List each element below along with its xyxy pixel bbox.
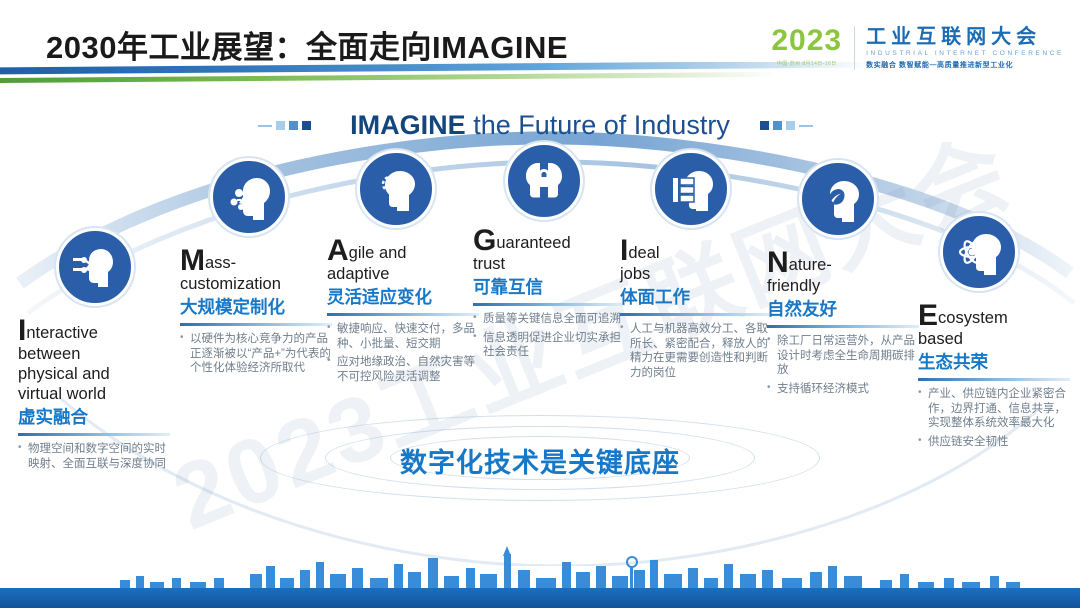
column-en-rest: ass-: [205, 254, 236, 272]
logo-divider: [854, 26, 855, 70]
column-en-rest: uaranteed: [496, 234, 570, 252]
column-en-text: Agile and adaptive: [327, 238, 479, 284]
column-initial: N: [767, 246, 789, 279]
column-initial: A: [327, 234, 349, 267]
column-en-line-1: between: [18, 345, 80, 363]
column-cn-title: 生态共荣: [918, 351, 1070, 373]
column-en-rest: gile and: [349, 244, 407, 262]
column-en-line-1: customization: [180, 275, 281, 293]
column-en-line-1: adaptive: [327, 265, 389, 283]
column-rule: [473, 303, 625, 306]
square-dark-right: [760, 121, 769, 130]
column-bullets: 敏捷响应、快速交付，多品种、小批量、短交期 应对地缘政治、自然灾害等不可控风险灵…: [327, 322, 479, 384]
slide-header: 2030年工业展望：全面走向IMAGINE 2023 中国·苏州 8月14日-1…: [0, 0, 1080, 98]
column-en-text: Guaranteed trust: [473, 228, 625, 274]
two-heads-lock-icon: [505, 142, 583, 220]
column-bullets: 质量等关键信息全面可追溯 信息透明促进企业切实承担社会责任: [473, 312, 625, 360]
column-initial: M: [180, 244, 205, 277]
square-mid-right: [773, 121, 782, 130]
column-en-text: Mass- customization: [180, 248, 332, 294]
column-cn-title: 体面工作: [620, 286, 772, 308]
column-en-text: Ideal jobs: [620, 238, 772, 284]
head-server-icon: [652, 150, 730, 228]
column-en-line-3: virtual world: [18, 385, 106, 403]
list-item: 质量等关键信息全面可追溯: [473, 312, 625, 327]
logo-year-block: 2023 中国·苏州 8月14日-16日: [771, 26, 854, 67]
square-dark-left: [302, 121, 311, 130]
column-nature-friendly[interactable]: Nature- friendly 自然友好 除工厂日常运营外，从产品设计时考虑全…: [767, 250, 919, 400]
list-item: 敏捷响应、快速交付，多品种、小批量、短交期: [327, 322, 479, 351]
headline-dots-right: [760, 121, 813, 130]
head-puzzle-icon: [210, 158, 288, 236]
column-en-line-1: friendly: [767, 277, 820, 295]
logo-year: 2023: [771, 26, 842, 56]
dash-left: [258, 125, 272, 127]
logo-conference-cn: 工业互联网大会: [866, 26, 1064, 48]
slide-footer: [0, 546, 1080, 608]
column-en-rest: nteractive: [26, 324, 98, 342]
list-item: 除工厂日常运营外，从产品设计时考虑全生命周期碳排放: [767, 334, 919, 378]
column-cn-title: 自然友好: [767, 298, 919, 320]
main-headline: IMAGINE the Future of Industry: [0, 110, 1080, 141]
city-skyline-icon: [0, 546, 1080, 590]
column-en-line-1: trust: [473, 255, 505, 273]
column-mass-customization[interactable]: Mass- customization 大规模定制化 以硬件为核心竞争力的产品正…: [180, 248, 332, 380]
head-gear-icon: [357, 150, 435, 228]
logo-date: 中国·苏州 8月14日-16日: [771, 60, 842, 67]
column-guaranteed-trust[interactable]: Guaranteed trust 可靠互信 质量等关键信息全面可追溯 信息透明促…: [473, 228, 625, 364]
head-leaf-icon: [799, 160, 877, 238]
column-bullets: 以硬件为核心竞争力的产品正逐渐被以“产品+”为代表的个性化体验经济所取代: [180, 332, 332, 376]
column-initial: E: [918, 299, 938, 332]
column-rule: [620, 313, 772, 316]
list-item: 支持循环经济模式: [767, 382, 919, 397]
list-item: 应对地缘政治、自然灾害等不可控风险灵活调整: [327, 355, 479, 384]
list-item: 信息透明促进企业切实承担社会责任: [473, 331, 625, 360]
column-rule: [327, 313, 479, 316]
column-agile-adaptive[interactable]: Agile and adaptive 灵活适应变化 敏捷响应、快速交付，多品种、…: [327, 238, 479, 388]
column-en-rest: ature-: [789, 256, 832, 274]
square-light-right: [786, 121, 795, 130]
column-en-line-1: jobs: [620, 265, 650, 283]
foundation-banner: 数字化技术是关键底座: [0, 411, 1080, 506]
column-cn-title: 灵活适应变化: [327, 286, 479, 308]
column-rule: [767, 325, 919, 328]
column-bullets: 人工与机器高效分工、各取所长、紧密配合，释放人的精力在更需要创造性和判断力的岗位: [620, 322, 772, 380]
column-ideal-jobs[interactable]: Ideal jobs 体面工作 人工与机器高效分工、各取所长、紧密配合，释放人的…: [620, 238, 772, 384]
logo-conference-en: INDUSTRIAL INTERNET CONFERENCE: [866, 50, 1064, 57]
slide-body: IMAGINE the Future of Industry 2023工业互联网…: [0, 98, 1080, 566]
column-en-text: Interactive between physical and virtual…: [18, 318, 170, 404]
column-initial: G: [473, 224, 496, 257]
column-en-text: Ecosystem based: [918, 303, 1070, 349]
head-connection-icon: [56, 228, 134, 306]
column-cn-title: 大规模定制化: [180, 296, 332, 318]
page-title: 2030年工业展望：全面走向IMAGINE: [46, 22, 568, 67]
logo-text-block: 工业互联网大会 INDUSTRIAL INTERNET CONFERENCE 数…: [866, 26, 1064, 70]
column-en-rest: cosystem: [938, 309, 1008, 327]
conference-logo: 2023 中国·苏州 8月14日-16日 工业互联网大会 INDUSTRIAL …: [771, 26, 1064, 76]
list-item: 人工与机器高效分工、各取所长、紧密配合，释放人的精力在更需要创造性和判断力的岗位: [620, 322, 772, 380]
headline-dots-left: [258, 121, 311, 130]
column-rule: [180, 323, 332, 326]
dash-right: [799, 125, 813, 127]
list-item: 以硬件为核心竞争力的产品正逐渐被以“产品+”为代表的个性化体验经济所取代: [180, 332, 332, 376]
banner-label: 数字化技术是关键底座: [0, 441, 1080, 480]
headline-rest: the Future of Industry: [466, 110, 730, 140]
column-cn-title: 可靠互信: [473, 276, 625, 298]
column-bullets: 除工厂日常运营外，从产品设计时考虑全生命周期碳排放 支持循环经济模式: [767, 334, 919, 396]
column-rule: [918, 378, 1070, 381]
logo-slogan: 数实融合 数智赋能—高质量推进新型工业化: [866, 60, 1064, 70]
column-en-text: Nature- friendly: [767, 250, 919, 296]
head-atom-icon: [940, 213, 1018, 291]
footer-bar: [0, 588, 1080, 608]
headline-imagine: IMAGINE: [350, 110, 466, 140]
column-en-line-1: based: [918, 330, 963, 348]
square-light-left: [276, 121, 285, 130]
column-en-rest: deal: [628, 244, 659, 262]
square-mid-left: [289, 121, 298, 130]
column-en-line-2: physical and: [18, 365, 110, 383]
